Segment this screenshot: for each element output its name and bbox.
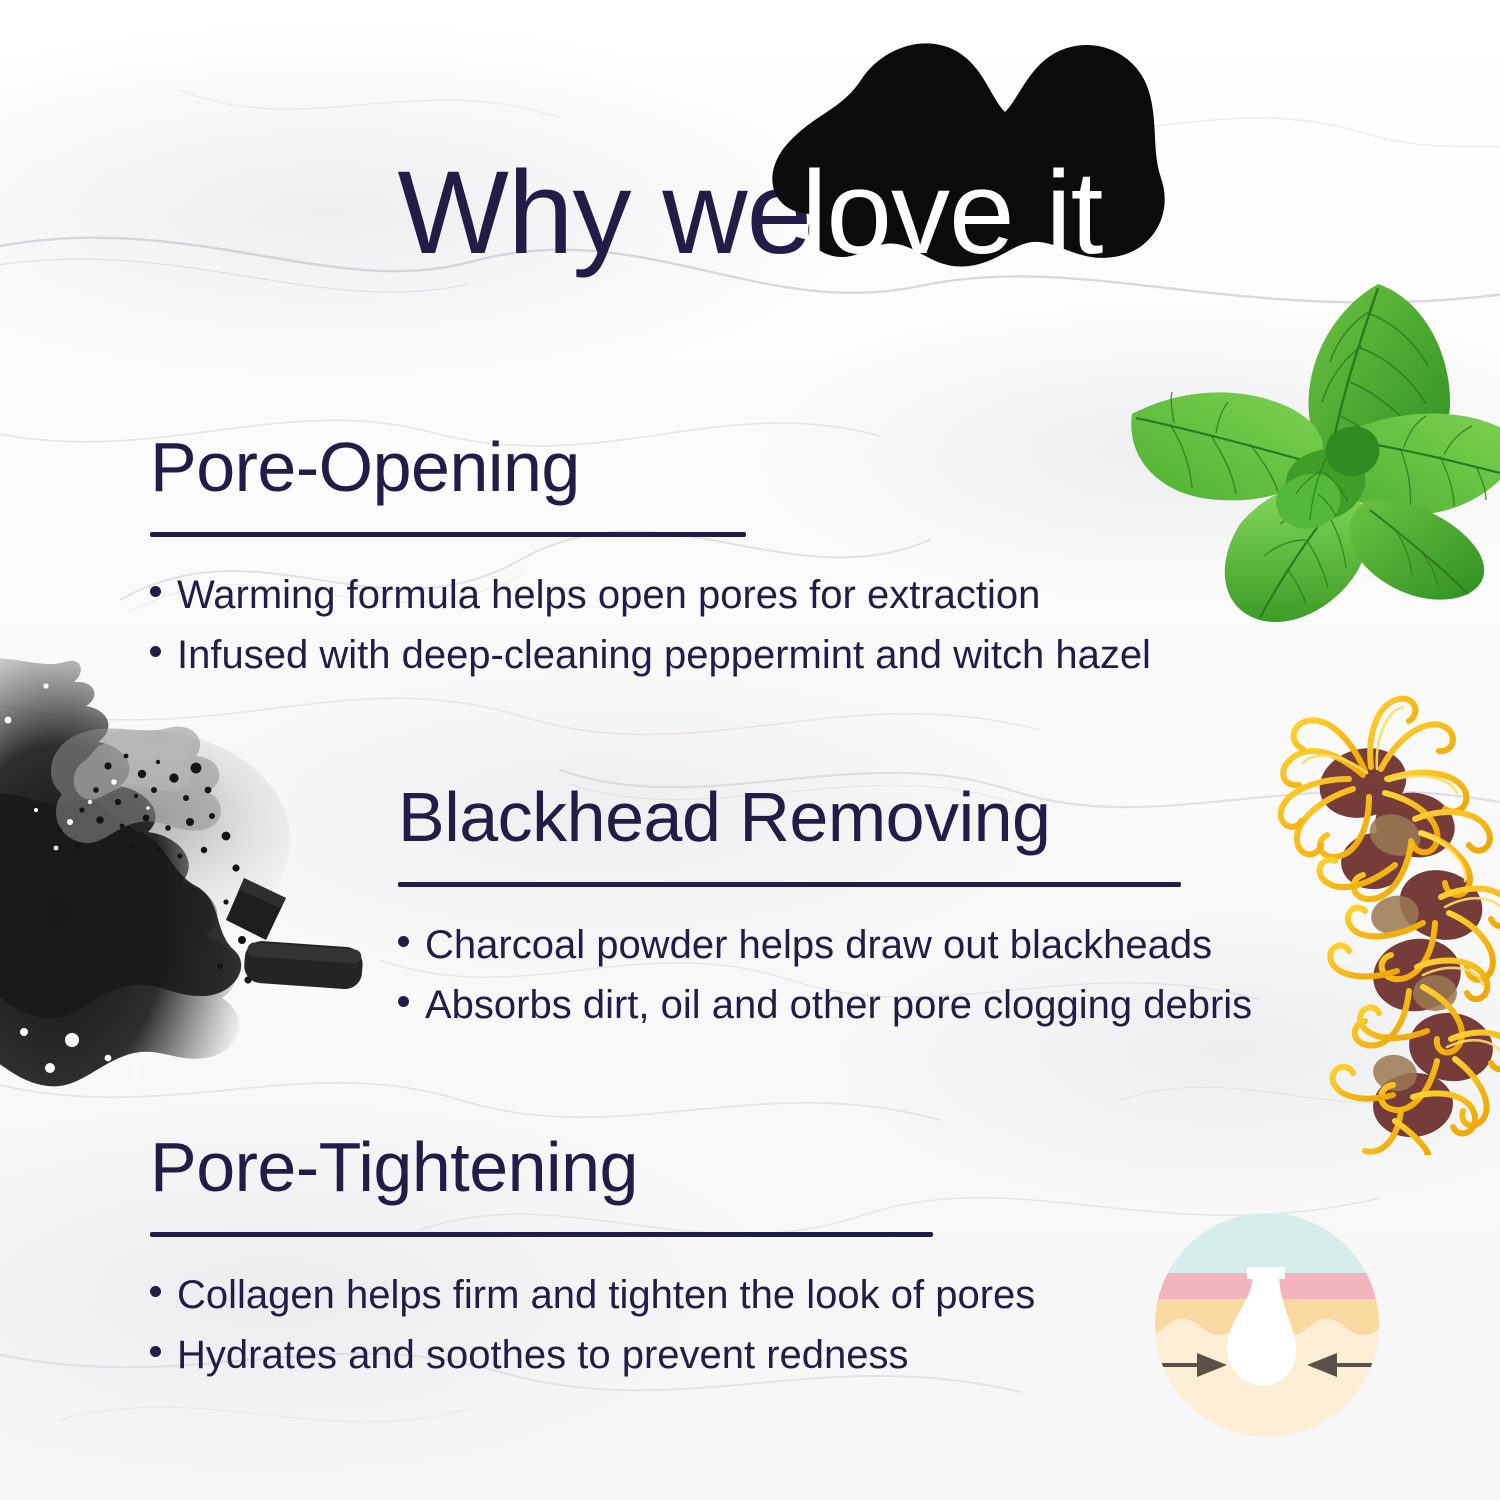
list-item: Collagen helps firm and tighten the look… bbox=[150, 1265, 935, 1325]
section-bullet-list: Collagen helps firm and tighten the look… bbox=[150, 1265, 935, 1385]
list-item: Charcoal powder helps draw out blackhead… bbox=[398, 915, 1183, 975]
page-title-accent: love it bbox=[801, 147, 1102, 279]
section-bullet-list: Charcoal powder helps draw out blackhead… bbox=[398, 915, 1183, 1035]
section-heading: Blackhead Removing bbox=[398, 782, 1183, 852]
bullet-text: Charcoal powder helps draw out blackhead… bbox=[425, 915, 1212, 975]
list-item: Absorbs dirt, oil and other pore cloggin… bbox=[398, 975, 1183, 1035]
infographic-canvas: Why we love it Pore-Opening Warming form… bbox=[0, 0, 1500, 1500]
list-item: Warming formula helps open pores for ext… bbox=[150, 565, 750, 625]
list-item: Infused with deep-cleaning peppermint an… bbox=[150, 625, 750, 685]
bullet-dot-icon bbox=[150, 646, 161, 657]
section-pore-opening: Pore-Opening Warming formula helps open … bbox=[150, 432, 750, 685]
section-pore-tightening: Pore-Tightening Collagen helps firm and … bbox=[150, 1132, 935, 1385]
page-title-main: Why we bbox=[398, 154, 812, 272]
section-bullet-list: Warming formula helps open pores for ext… bbox=[150, 565, 750, 685]
section-heading: Pore-Opening bbox=[150, 432, 750, 502]
page-title: Why we love it bbox=[0, 128, 1500, 298]
love-it-badge: love it bbox=[801, 154, 1102, 272]
section-heading: Pore-Tightening bbox=[150, 1132, 935, 1202]
bullet-dot-icon bbox=[150, 1346, 161, 1357]
section-divider bbox=[150, 1232, 933, 1237]
bullet-dot-icon bbox=[398, 936, 409, 947]
bullet-text: Collagen helps firm and tighten the look… bbox=[177, 1265, 1035, 1325]
bullet-text: Warming formula helps open pores for ext… bbox=[177, 565, 1040, 625]
bullet-dot-icon bbox=[398, 996, 409, 1007]
section-blackhead-removing: Blackhead Removing Charcoal powder helps… bbox=[398, 782, 1183, 1035]
section-divider bbox=[150, 532, 746, 537]
bullet-text: Absorbs dirt, oil and other pore cloggin… bbox=[425, 975, 1252, 1035]
section-divider bbox=[398, 882, 1181, 887]
bullet-dot-icon bbox=[150, 1286, 161, 1297]
bullet-dot-icon bbox=[150, 586, 161, 597]
list-item: Hydrates and soothes to prevent redness bbox=[150, 1325, 935, 1385]
bullet-text: Hydrates and soothes to prevent redness bbox=[177, 1325, 909, 1385]
bullet-text: Infused with deep-cleaning peppermint an… bbox=[177, 625, 1151, 685]
